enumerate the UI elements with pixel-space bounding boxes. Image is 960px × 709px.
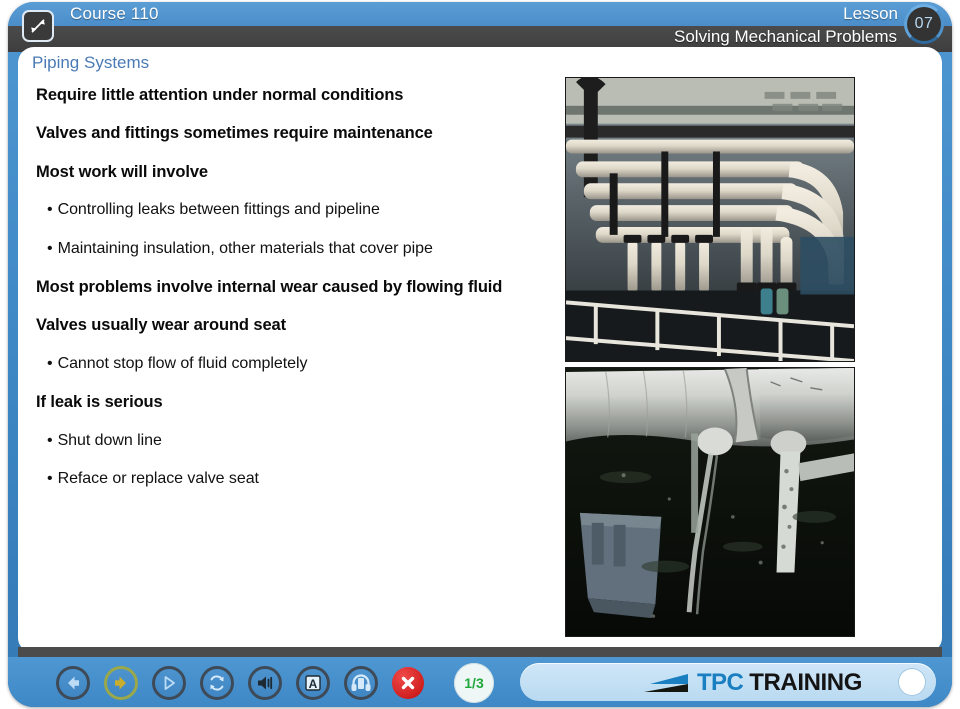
- lesson-word-label: Lesson: [843, 4, 898, 24]
- bullet-sub-item: •Shut down line: [36, 431, 506, 451]
- brand-knob-button[interactable]: [898, 668, 926, 696]
- play-button[interactable]: [152, 666, 186, 700]
- bullet-marker: •: [47, 240, 58, 257]
- volume-button[interactable]: [248, 666, 282, 700]
- player-toolbar: A 1/3: [8, 657, 952, 707]
- bullet-marker: •: [47, 355, 58, 372]
- bullet-sub-item: •Cannot stop flow of fluid completely: [36, 354, 506, 374]
- arrow-right-icon: [112, 674, 130, 692]
- back-button[interactable]: [56, 666, 90, 700]
- brand-bar: TPC TRAINING: [520, 663, 936, 701]
- leaking-pipe-photo: [565, 367, 855, 637]
- bullet-sub-item: •Maintaining insulation, other materials…: [36, 239, 506, 259]
- bullet-heading: Most work will involve: [36, 162, 506, 182]
- page-indicator: 1/3: [454, 663, 494, 703]
- bullet-sub-text: Cannot stop flow of fluid completely: [58, 355, 308, 372]
- arrow-left-icon: [64, 674, 82, 692]
- lesson-number-text: 07: [915, 15, 934, 33]
- replay-icon: [207, 673, 227, 693]
- slide-bullet-list: Require little attention under normal co…: [36, 85, 506, 507]
- svg-text:A: A: [309, 677, 318, 691]
- bullet-sub-text: Controlling leaks between fittings and p…: [58, 201, 380, 218]
- bullet-marker: •: [47, 470, 58, 487]
- brand-name-secondary: TRAINING: [749, 671, 862, 695]
- page-title: Piping Systems: [32, 53, 149, 73]
- speaker-icon: [255, 674, 275, 692]
- brand-name-primary: TPC: [697, 671, 743, 695]
- bullet-heading: Most problems involve internal wear caus…: [36, 277, 506, 297]
- bullet-heading: If leak is serious: [36, 392, 506, 412]
- audio-button[interactable]: [344, 666, 378, 700]
- bullet-sub-text: Maintaining insulation, other materials …: [58, 240, 433, 257]
- course-label: Course 110: [70, 4, 159, 24]
- lesson-title: Solving Mechanical Problems: [674, 27, 897, 47]
- bullet-sub-text: Shut down line: [58, 432, 162, 449]
- close-x-icon: [399, 674, 417, 692]
- tpc-logo-mark: [642, 672, 690, 694]
- slide-content-area: Piping Systems Require little attention …: [18, 47, 942, 652]
- leaking-pipe-illustration: [566, 368, 854, 636]
- play-icon: [160, 674, 178, 692]
- bullet-marker: •: [47, 201, 58, 218]
- bullet-marker: •: [47, 432, 58, 449]
- replay-button[interactable]: [200, 666, 234, 700]
- course-player-window: Course 110 Lesson Solving Mechanical Pro…: [8, 2, 952, 707]
- page-indicator-text: 1/3: [464, 675, 483, 691]
- bullet-heading: Require little attention under normal co…: [36, 85, 506, 105]
- headphones-icon: [350, 673, 372, 693]
- resize-diagonal-glyph: [28, 16, 48, 36]
- text-button[interactable]: A: [296, 666, 330, 700]
- industrial-piping-photo: [565, 77, 855, 362]
- bullet-sub-item: •Controlling leaks between fittings and …: [36, 200, 506, 220]
- industrial-piping-illustration: [566, 78, 854, 361]
- resize-diagonal-icon[interactable]: [22, 10, 54, 42]
- letter-a-icon: A: [303, 673, 323, 693]
- bullet-heading: Valves and fittings sometimes require ma…: [36, 123, 506, 143]
- forward-button[interactable]: [104, 666, 138, 700]
- close-button[interactable]: [392, 667, 424, 699]
- lesson-number-badge: 07: [904, 4, 944, 44]
- bullet-heading: Valves usually wear around seat: [36, 315, 506, 335]
- tpc-logo: TPC TRAINING: [642, 671, 862, 695]
- bullet-sub-item: •Reface or replace valve seat: [36, 469, 506, 489]
- bullet-sub-text: Reface or replace valve seat: [58, 470, 259, 487]
